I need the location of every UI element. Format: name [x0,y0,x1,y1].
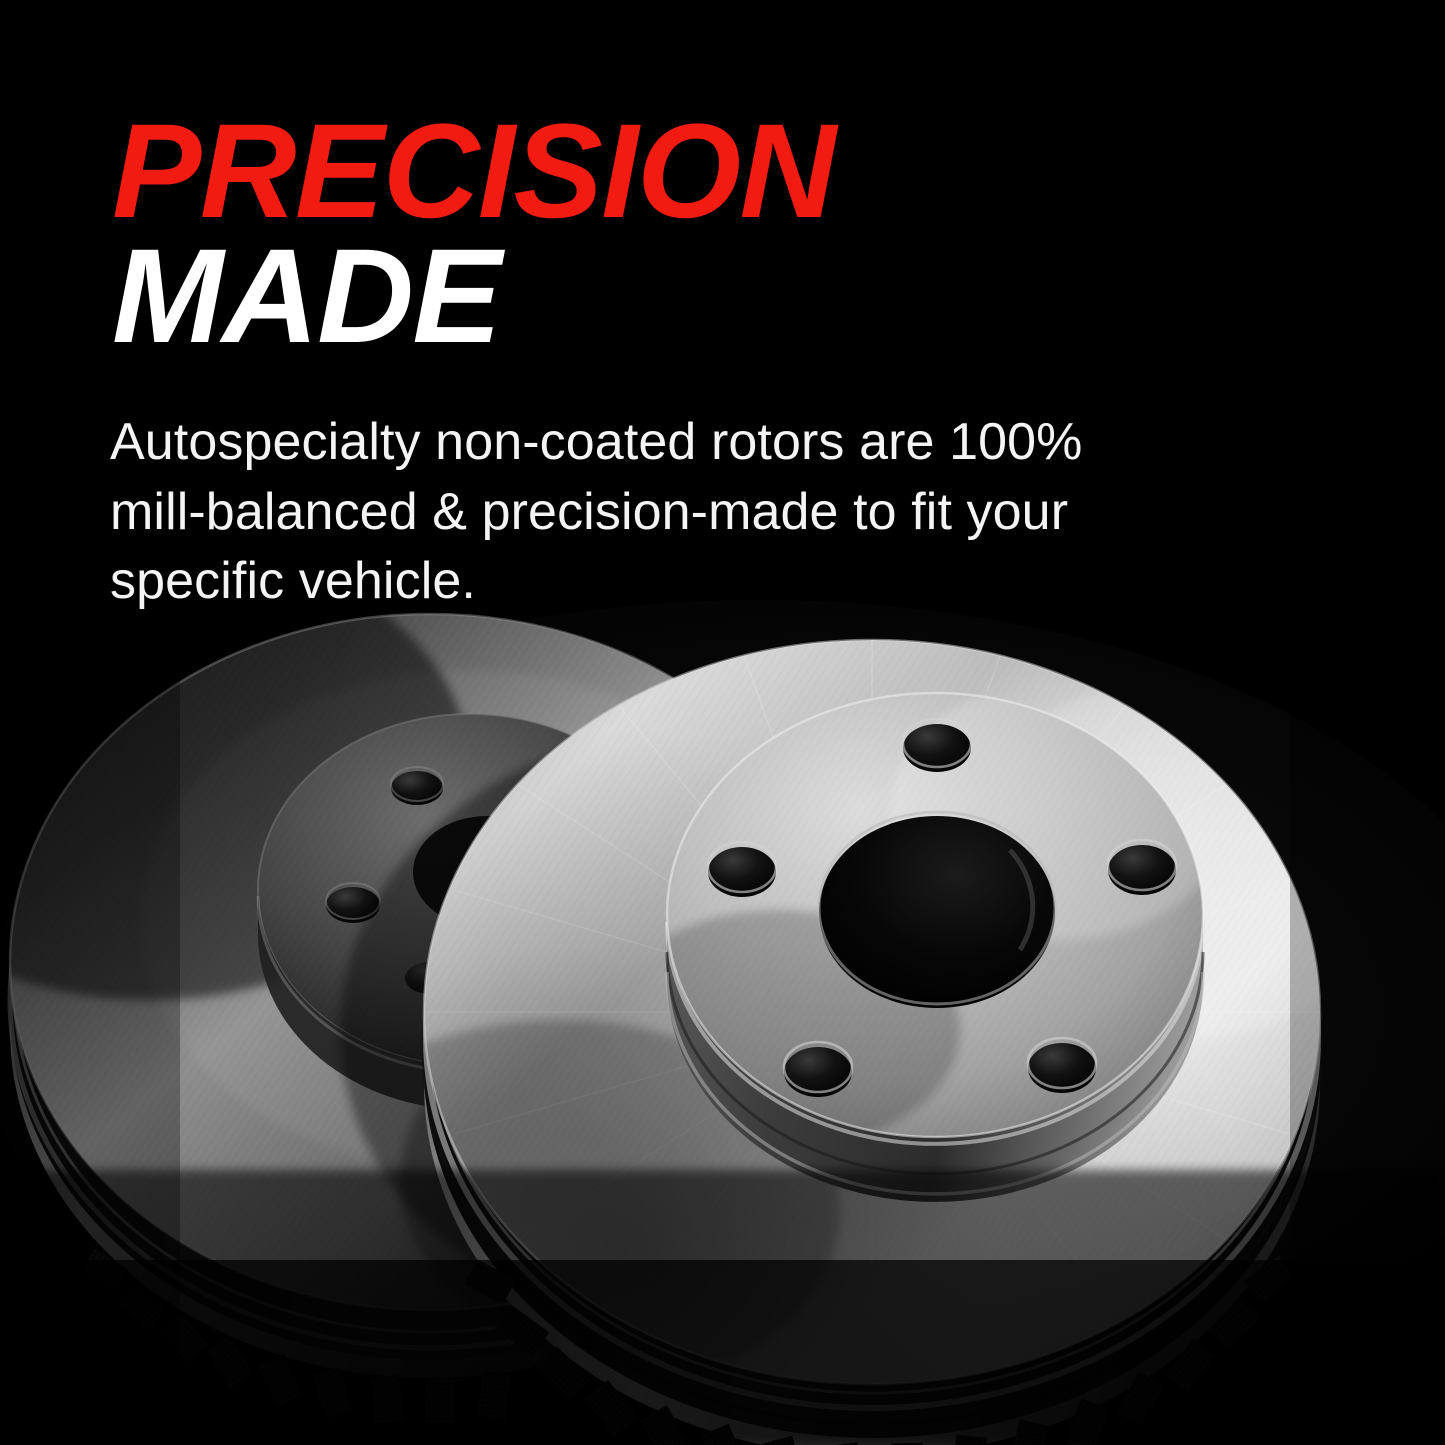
lug-hole [784,1042,852,1097]
lug-hole [708,842,776,897]
lug-hole [1108,840,1176,895]
lug-hole [903,719,971,772]
product-marketing-banner: PRECISION MADE Autospecialty non-coated … [0,0,1445,1445]
brake-rotor-product-photo [0,560,1445,1445]
headline-precision: PRECISION [112,112,1292,233]
body-copy: Autospecialty non-coated rotors are 100%… [110,408,1270,617]
headline-made: MADE [112,237,1292,358]
center-bore [819,816,1055,1008]
body-copy-line-1: Autospecialty non-coated rotors are 100% [110,408,1270,478]
headline-block: PRECISION MADE [112,112,1292,357]
lug-hole [1028,1038,1096,1093]
body-copy-line-2: mill-balanced & precision-made to fit yo… [110,478,1270,548]
body-copy-line-3: specific vehicle. [110,547,1270,617]
